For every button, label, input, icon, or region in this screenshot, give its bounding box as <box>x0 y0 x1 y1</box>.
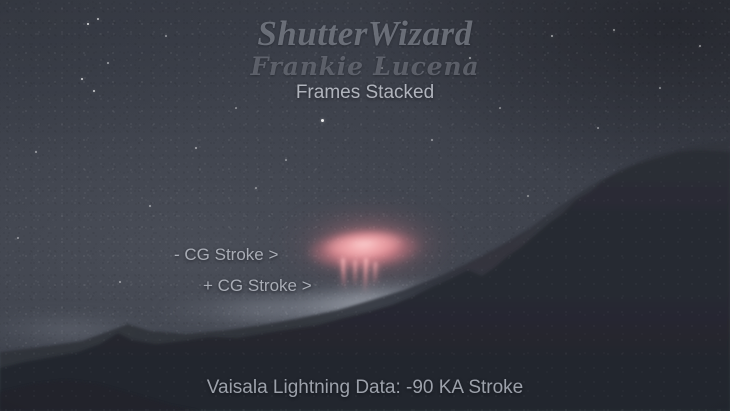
watermark-brand: ShutterWizard <box>0 14 730 54</box>
annotation-positive-cg-stroke: + CG Stroke > <box>203 276 312 296</box>
caption-frames-stacked: Frames Stacked <box>0 82 730 104</box>
annotation-negative-cg-stroke: - CG Stroke > <box>174 245 278 265</box>
watermark-author: Frankie Lucena <box>0 52 730 81</box>
sprite-photograph: ShutterWizard Frankie Lucena Frames Stac… <box>0 0 730 411</box>
caption-vaisala-lightning-data: Vaisala Lightning Data: -90 KA Stroke <box>0 377 730 399</box>
